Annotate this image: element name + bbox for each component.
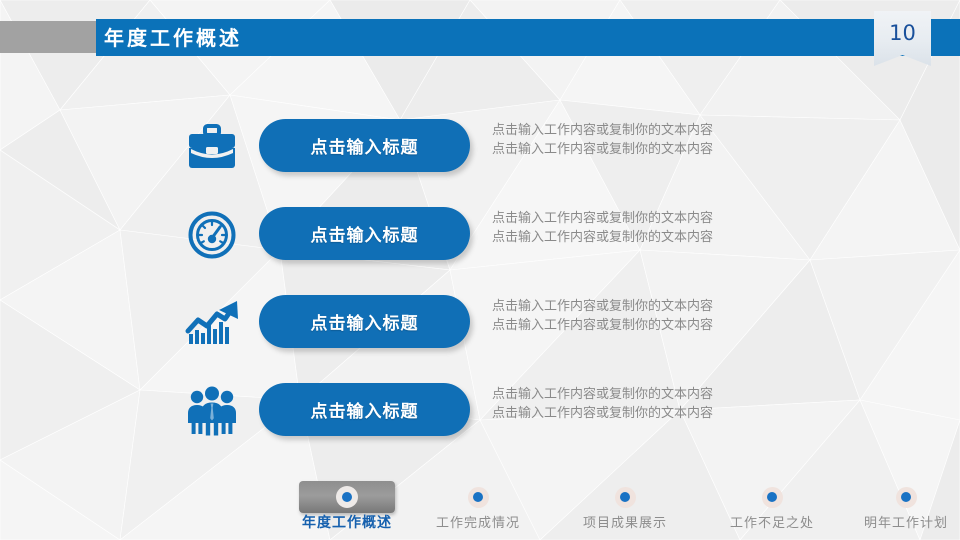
nav-dot-icon: [901, 492, 911, 502]
content-row: 点击输入标题 点击输入工作内容或复制你的文本内容 点击输入工作内容或复制你的文本…: [0, 291, 960, 355]
nav-dot-wrapper: [836, 486, 960, 508]
nav-dot-wrapper: [408, 486, 548, 508]
nav-dot-icon: [620, 492, 630, 502]
nav-item-shortcomings[interactable]: 工作不足之处: [702, 468, 842, 540]
nav-dot-halo: [615, 487, 636, 508]
row-description-line-2: 点击输入工作内容或复制你的文本内容: [492, 228, 812, 247]
nav-dot-wrapper: [555, 486, 695, 508]
slide-canvas: 年度工作概述 10 点击输入标题: [0, 0, 960, 540]
nav-dot-icon: [767, 492, 777, 502]
row-description: 点击输入工作内容或复制你的文本内容 点击输入工作内容或复制你的文本内容: [492, 209, 812, 247]
header-gray-block: [0, 21, 96, 53]
row-title-label: 点击输入标题: [311, 309, 419, 334]
nav-item-label: 工作完成情况: [408, 512, 548, 531]
content-row: 点击输入标题 点击输入工作内容或复制你的文本内容 点击输入工作内容或复制你的文本…: [0, 379, 960, 443]
row-description: 点击输入工作内容或复制你的文本内容 点击输入工作内容或复制你的文本内容: [492, 385, 812, 423]
nav-item-next-year-plan[interactable]: 明年工作计划: [836, 468, 960, 540]
section-navigation: 年度工作概述 工作完成情况 项目成果展示: [0, 468, 960, 540]
nav-item-work-completion[interactable]: 工作完成情况: [408, 468, 548, 540]
row-title-label: 点击输入标题: [311, 221, 419, 246]
nav-item-label: 年度工作概述: [277, 512, 417, 532]
background-polygon-pattern: [0, 0, 960, 540]
nav-dot-halo: [336, 486, 358, 508]
page-title: 年度工作概述: [104, 20, 242, 56]
row-title-button[interactable]: 点击输入标题: [259, 295, 470, 348]
nav-dot-halo: [468, 487, 489, 508]
briefcase-icon: [176, 115, 248, 179]
nav-item-label: 项目成果展示: [555, 512, 695, 531]
row-description-line-1: 点击输入工作内容或复制你的文本内容: [492, 385, 812, 404]
nav-dot-icon: [342, 492, 352, 502]
nav-item-project-results[interactable]: 项目成果展示: [555, 468, 695, 540]
nav-item-label: 明年工作计划: [836, 512, 960, 531]
row-description-line-2: 点击输入工作内容或复制你的文本内容: [492, 316, 812, 335]
row-description: 点击输入工作内容或复制你的文本内容 点击输入工作内容或复制你的文本内容: [492, 121, 812, 159]
row-description: 点击输入工作内容或复制你的文本内容 点击输入工作内容或复制你的文本内容: [492, 297, 812, 335]
content-row: 点击输入标题 点击输入工作内容或复制你的文本内容 点击输入工作内容或复制你的文本…: [0, 115, 960, 179]
row-description-line-2: 点击输入工作内容或复制你的文本内容: [492, 140, 812, 159]
speedometer-icon: [176, 203, 248, 267]
page-number: 10: [874, 11, 931, 55]
row-description-line-1: 点击输入工作内容或复制你的文本内容: [492, 209, 812, 228]
nav-dot-wrapper: [702, 486, 842, 508]
nav-dot-wrapper: [277, 486, 417, 508]
growth-chart-icon: [176, 291, 248, 355]
team-group-icon: [176, 379, 248, 443]
row-description-line-1: 点击输入工作内容或复制你的文本内容: [492, 121, 812, 140]
row-title-label: 点击输入标题: [311, 133, 419, 158]
nav-dot-halo: [896, 487, 917, 508]
nav-item-label: 工作不足之处: [702, 512, 842, 531]
content-row: 点击输入标题 点击输入工作内容或复制你的文本内容 点击输入工作内容或复制你的文本…: [0, 203, 960, 267]
nav-item-annual-overview[interactable]: 年度工作概述: [277, 468, 417, 540]
row-title-button[interactable]: 点击输入标题: [259, 119, 470, 172]
nav-dot-icon: [473, 492, 483, 502]
row-title-button[interactable]: 点击输入标题: [259, 383, 470, 436]
nav-dot-halo: [762, 487, 783, 508]
row-title-label: 点击输入标题: [311, 397, 419, 422]
row-description-line-2: 点击输入工作内容或复制你的文本内容: [492, 404, 812, 423]
row-title-button[interactable]: 点击输入标题: [259, 207, 470, 260]
row-description-line-1: 点击输入工作内容或复制你的文本内容: [492, 297, 812, 316]
